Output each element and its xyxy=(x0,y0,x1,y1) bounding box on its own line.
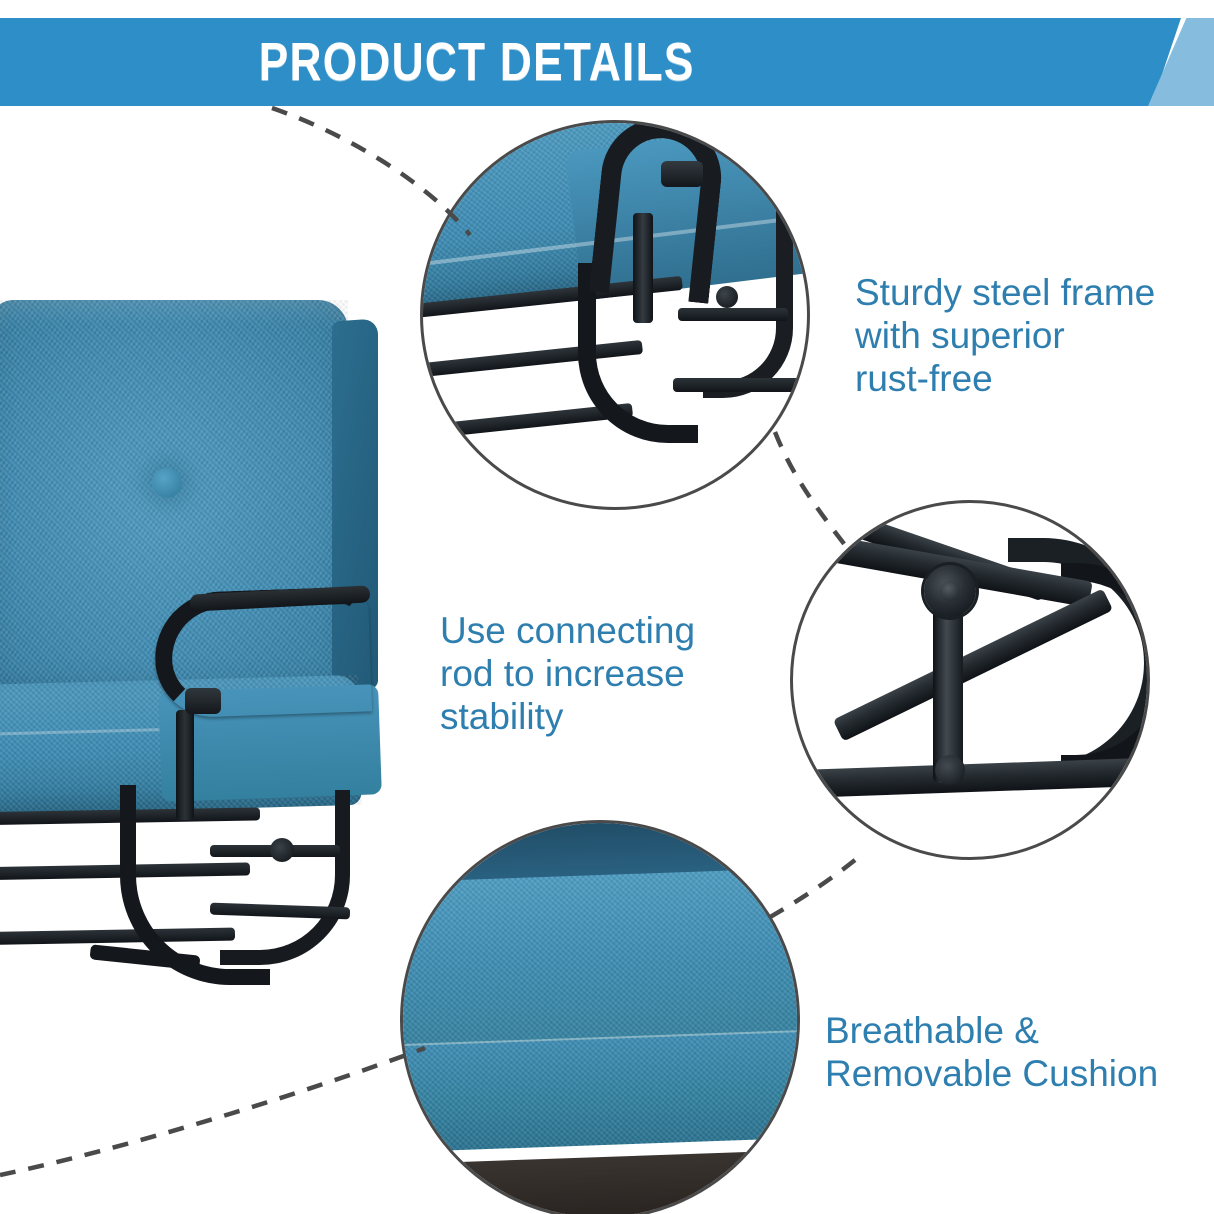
caption-breathable-cushion: Breathable & Removable Cushion xyxy=(825,1010,1205,1096)
fabric-texture xyxy=(400,867,800,1052)
detail-armrest-post xyxy=(633,213,653,323)
product-details-infographic: PRODUCT DETAILS xyxy=(0,0,1214,1214)
detail-circle-rod xyxy=(790,500,1150,860)
hero-product-photo xyxy=(0,290,400,1010)
detail-lower-pivot-joint xyxy=(935,755,965,785)
caption-connecting-rod: Use connecting rod to increase stability xyxy=(440,610,760,739)
detail-main-pivot-joint xyxy=(924,565,976,617)
cushion-tuft-button xyxy=(152,468,182,498)
rod-pivot-joint xyxy=(270,838,294,862)
caption-steel-frame: Sturdy steel frame with superior rust-fr… xyxy=(855,272,1205,401)
detail-armrest xyxy=(589,120,727,304)
detail-circle-frame xyxy=(420,120,810,510)
armrest-knob xyxy=(185,688,221,714)
page-title: PRODUCT DETAILS xyxy=(95,18,964,106)
detail-armrest-knob xyxy=(661,161,703,187)
header-banner: PRODUCT DETAILS xyxy=(0,18,1214,106)
detail-cushion-lower xyxy=(400,1031,800,1156)
detail-pivot-joint xyxy=(716,286,738,308)
detail-cushion-upper xyxy=(400,867,800,1052)
detail-circle-cushion xyxy=(400,820,800,1214)
connector-cushion-to-hero xyxy=(0,1048,425,1175)
fabric-texture xyxy=(400,1031,800,1156)
